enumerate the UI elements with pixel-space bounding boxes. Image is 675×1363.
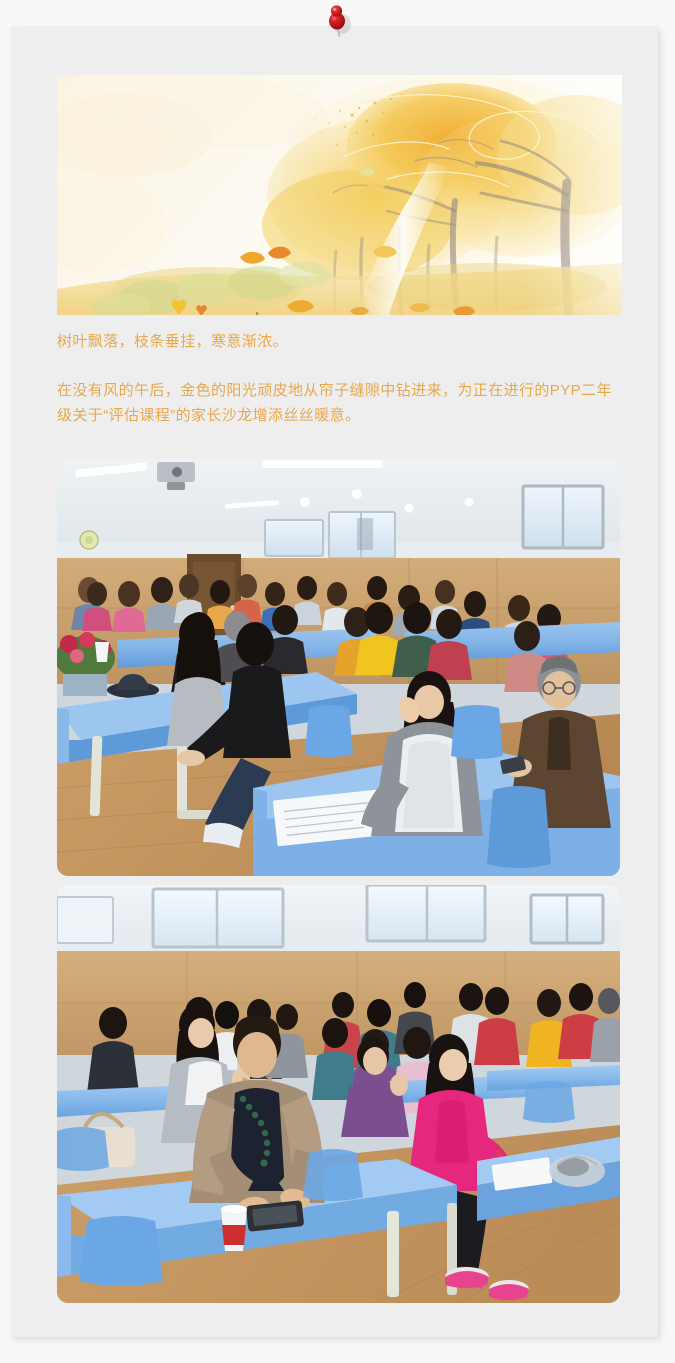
banner-image [57, 75, 622, 315]
pushpin-icon [322, 2, 356, 38]
classroom-photo-1-image [57, 458, 620, 876]
article-card: 树叶飘落，枝条垂挂，寒意渐浓。 在没有风的午后，金色的阳光顽皮地从帘子缝隙中钻进… [10, 26, 658, 1337]
classroom-photo-2-image [57, 885, 620, 1303]
classroom-photo-1 [57, 458, 620, 876]
classroom-photo-2 [57, 885, 620, 1303]
autumn-watercolor-illustration [57, 75, 622, 315]
article-body-paragraph: 在没有风的午后，金色的阳光顽皮地从帘子缝隙中钻进来，为正在进行的PYP二年级关于… [57, 378, 622, 428]
article-content: 树叶飘落，枝条垂挂，寒意渐浓。 在没有风的午后，金色的阳光顽皮地从帘子缝隙中钻进… [57, 75, 622, 1303]
pushpin-glyph [322, 2, 356, 38]
article-lead-text: 树叶飘落，枝条垂挂，寒意渐浓。 [57, 329, 622, 354]
